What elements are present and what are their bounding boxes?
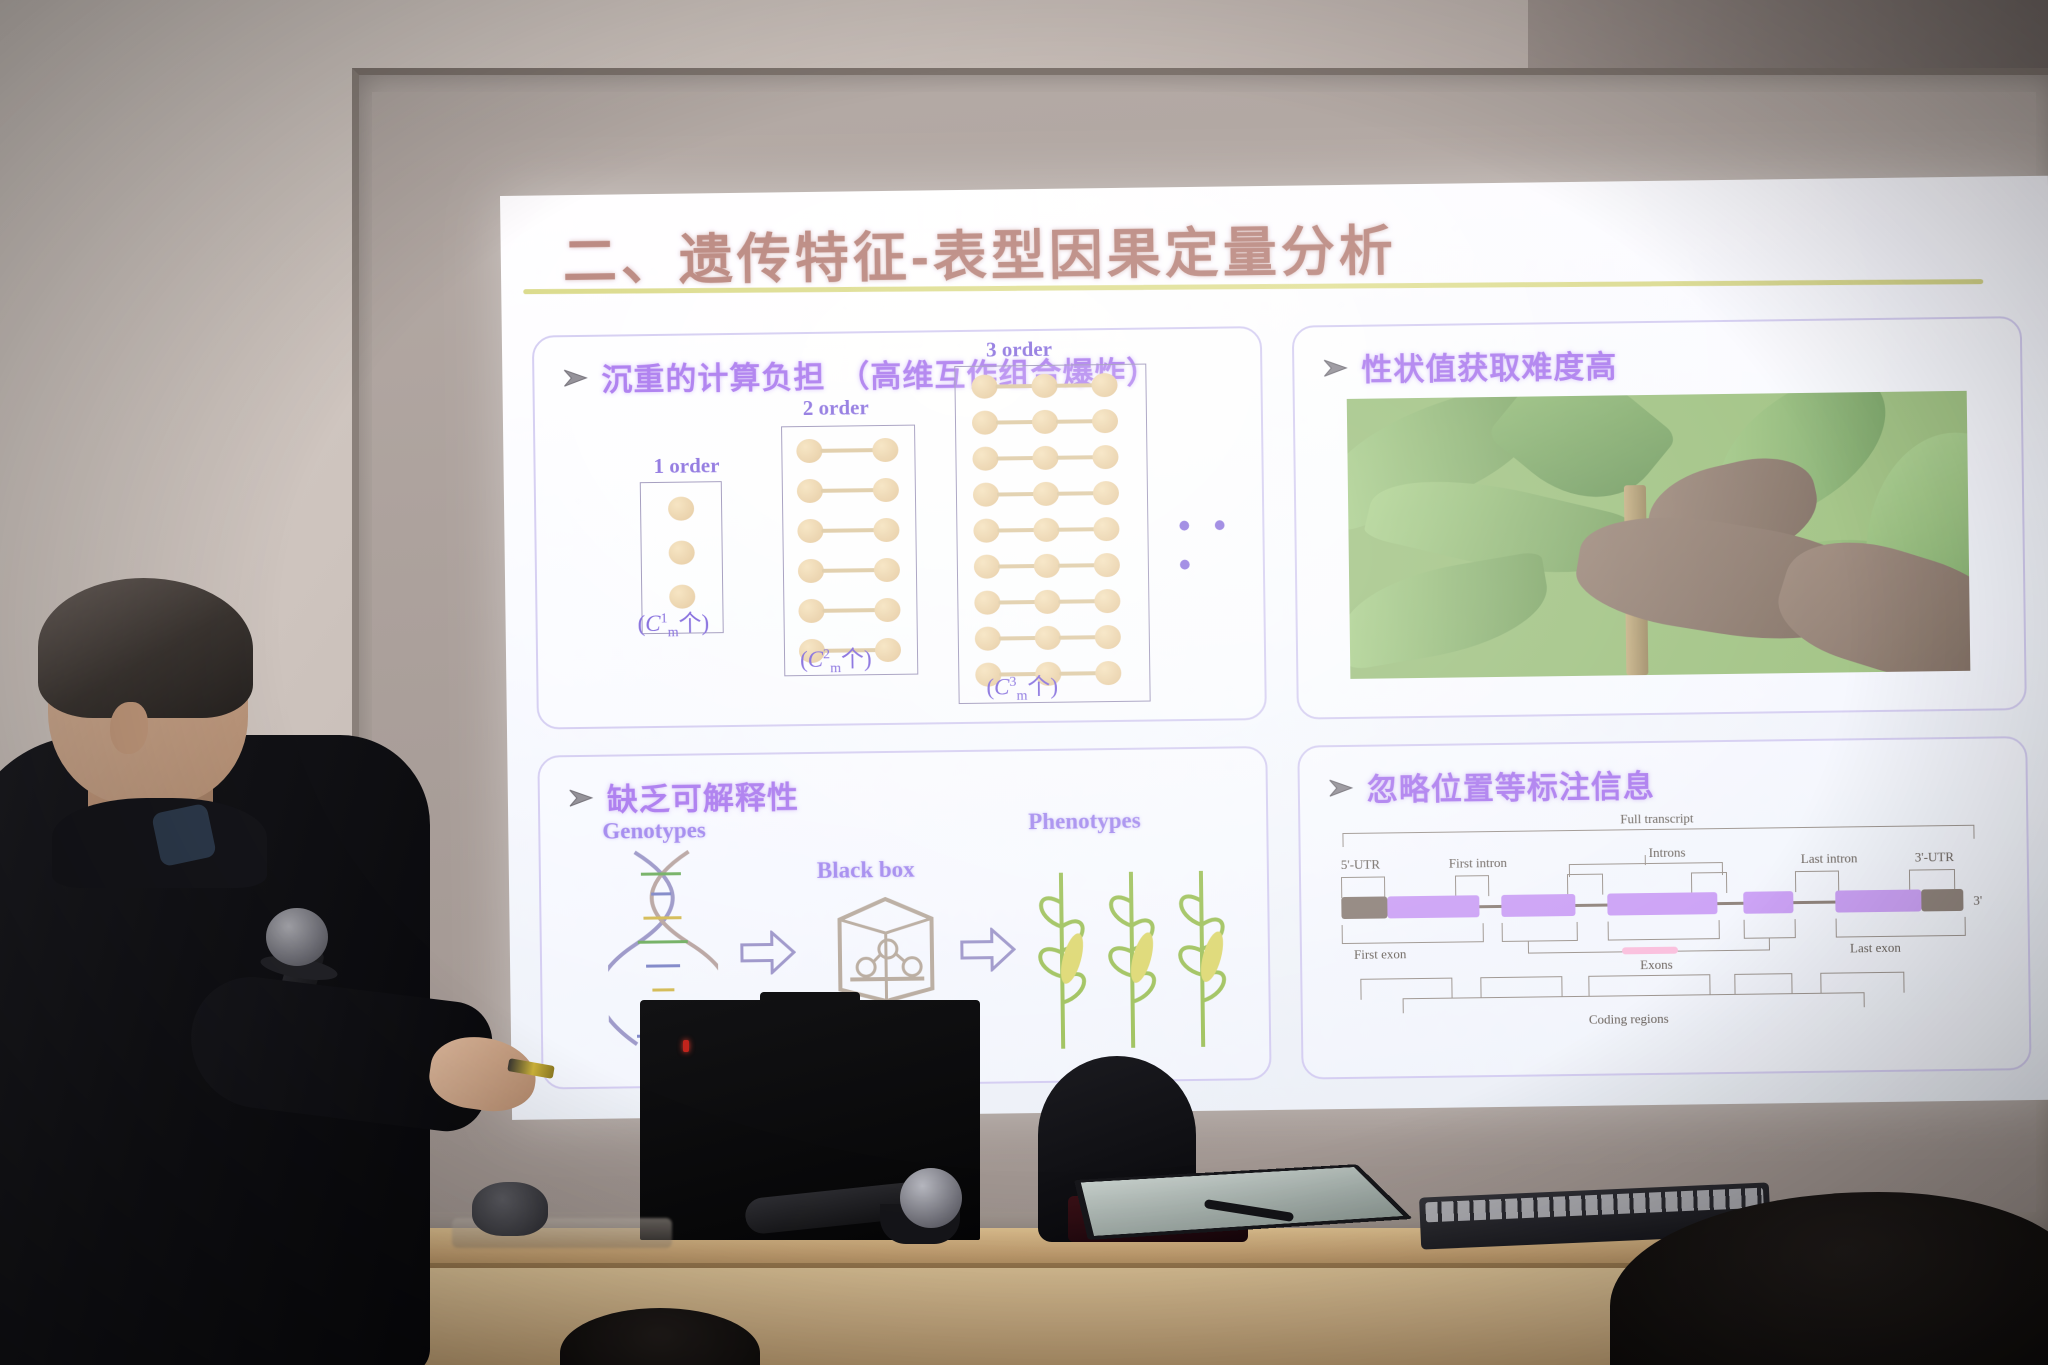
black-box-icon [831,892,940,1001]
arrow-bullet-icon [1328,775,1354,799]
flow-label-phenotypes: Phenotypes [1028,808,1141,835]
node-dot [1094,589,1120,613]
node-dot [972,411,998,435]
right-arrow-icon [960,927,1017,972]
node-link [1057,491,1095,495]
node-dot [1034,590,1060,614]
projected-slide: 二、遗传特征-表型因果定量分析 沉重的计算负担 （高维互作组合爆炸） 1 ord… [500,176,2048,1120]
node-link [821,528,875,533]
node-dot [1032,410,1058,434]
full-transcript-bracket [1342,825,1974,847]
node-dot [796,439,822,463]
tick-last-intron [1795,871,1839,893]
node-dot [975,626,1001,650]
node-dot [873,478,899,502]
field-measurement-photo [1347,391,1971,679]
node-link [1058,599,1096,603]
node-link [996,456,1034,460]
order-formula-3: (C3m个) [986,667,1058,706]
node-dot [1092,445,1118,469]
utr-5prime [1341,896,1387,919]
node-link [997,528,1035,532]
order-label-3: 3 order [986,337,1052,363]
maize-plants-icon [1027,840,1240,1053]
coding-tick-5 [1820,972,1904,994]
node-link [1058,563,1096,567]
node-dot [1033,482,1059,506]
tick-first-intron [1455,875,1489,896]
node-dot [874,558,900,582]
panel-compute-burden: 沉重的计算负担 （高维互作组合爆炸） 1 order (C1m个) 2 orde… [532,326,1267,730]
node-dot [1091,373,1117,397]
node-dot [1034,554,1060,578]
node-link [998,564,1036,568]
node-dot [1092,409,1118,433]
panel-heading-trait-acquisition: 性状值获取难度高 [1361,341,1618,389]
node-dot [1031,374,1057,398]
exon-last [1835,889,1921,912]
presenter-ear [110,702,148,754]
bracket-exon-a [1502,922,1578,942]
screenshot-root: 二、遗传特征-表型因果定量分析 沉重的计算负担 （高维互作组合爆炸） 1 ord… [0,0,2048,1365]
panel-heading-row: 忽略位置等标注信息 [1328,761,1656,810]
flow-label-genotypes: Genotypes [602,817,706,844]
tick-3utr [1909,869,1955,891]
node-dot [798,599,824,623]
node-dot [668,496,694,520]
node-link [998,600,1036,604]
coding-tick-2 [1480,976,1562,998]
node-dot [798,559,824,583]
presenter [0,590,520,1365]
node-dot [974,590,1000,614]
node-link [821,488,875,493]
node-dot [1033,518,1059,542]
panel-trait-acquisition: 性状值获取难度高 [1292,316,2027,720]
introns-stem [1645,855,1646,865]
order-formula-2: (C2m个) [800,639,872,678]
order-label-1: 1 order [653,453,719,479]
node-dot [973,482,999,506]
gene-label-full-transcript: Full transcript [1620,810,1694,827]
tick-intron-a [1567,874,1603,895]
node-link [1059,635,1097,639]
node-dot [872,438,898,462]
node-link [822,568,876,573]
node-dot [1032,446,1058,470]
node-link [822,608,876,613]
gene-label-last-intron: Last intron [1801,850,1858,867]
exon [1501,894,1575,917]
gene-label-exons: Exons [1640,957,1673,973]
node-dot [974,554,1000,578]
node-dot [875,638,901,662]
arrow-bullet-icon [562,365,588,389]
panel-annotation-ignored: 忽略位置等标注信息 Full transcript 5'-UTR First i… [1297,736,2031,1080]
node-link [1056,419,1094,423]
node-dot [971,375,997,399]
exon-first [1387,895,1479,918]
panel-heading-annotation-ignored: 忽略位置等标注信息 [1367,761,1656,810]
coding-tick-3 [1588,974,1710,997]
exon [1743,891,1793,914]
gene-end-marker: 3' [1973,893,1982,909]
tick-5utr [1341,876,1385,898]
node-dot [797,479,823,503]
node-link [997,492,1035,496]
node-dot [797,519,823,543]
exon [1607,892,1717,915]
node-link [820,448,874,453]
gene-label-introns: Introns [1649,845,1686,861]
arrow-bullet-icon [1322,355,1348,379]
coding-tick-1 [1360,978,1452,1000]
node-dot [669,540,695,564]
arrow-bullet-icon [568,785,594,809]
node-dot [1094,553,1120,577]
order-label-2: 2 order [803,395,869,421]
gene-label-first-exon: First exon [1354,946,1407,963]
panel-heading-row: 性状值获取难度高 [1322,341,1618,390]
tick-intron-b [1691,872,1727,893]
right-arrow-icon [740,930,797,975]
bracket-last-exon [1836,917,1966,938]
microphone-head [266,908,328,966]
bracket-exon-c [1744,919,1796,939]
node-dot [873,518,899,542]
node-dot [1035,626,1061,650]
handheld-microphone-head [900,1168,962,1228]
node-dot [973,518,999,542]
gene-label-coding-regions: Coding regions [1589,1011,1669,1028]
coding-tick-4 [1734,973,1792,995]
node-link [999,636,1037,640]
coding-region-bracket [1403,992,1865,1013]
node-link [996,420,1034,424]
node-link [1056,383,1094,387]
node-link [1056,455,1094,459]
node-dot [972,446,998,470]
node-dot [1093,517,1119,541]
laptop-indicator-light [683,1040,689,1052]
node-dot [874,598,900,622]
ellipsis-marker: • • • [1178,506,1263,585]
gene-label-5utr: 5'-UTR [1341,857,1380,874]
node-link [1059,671,1097,675]
node-dot [1095,625,1121,649]
utr-3prime [1921,889,1963,912]
node-dot [1095,661,1121,685]
panel-heading-interpretability: 缺乏可解释性 [607,772,800,820]
node-link [1057,527,1095,531]
order-formula-1: (C1m个) [637,603,709,642]
presenter-hair [38,578,253,718]
panel-heading-row: 缺乏可解释性 [568,772,800,820]
presenter-shirt [151,803,217,867]
flow-label-black-box: Black box [817,857,915,884]
gene-label-3utr: 3'-UTR [1915,849,1954,866]
exons-highlight [1622,947,1678,955]
slide-title: 二、遗传特征-表型因果定量分析 [562,206,1397,296]
gene-label-last-exon: Last exon [1850,940,1901,957]
node-link [996,384,1034,388]
bracket-first-exon [1342,923,1484,944]
panel-heading-compute-burden: 沉重的计算负担 [601,352,826,400]
node-dot [1093,481,1119,505]
gene-label-first-intron: First intron [1449,855,1507,872]
order-box-3 [954,364,1150,704]
